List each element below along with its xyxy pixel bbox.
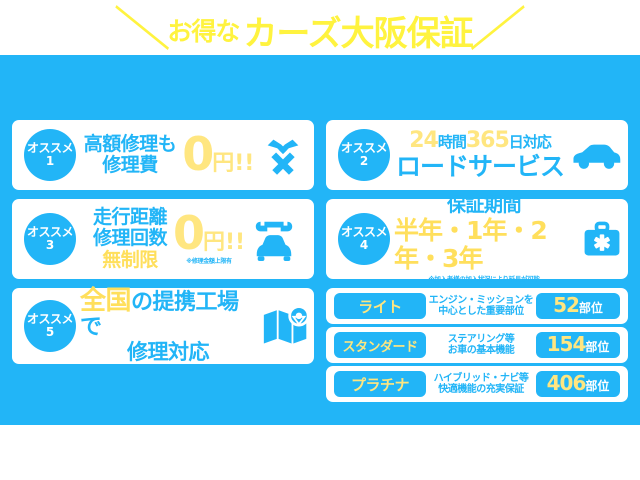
card-3-line-2: 修理回数 [93,228,167,249]
hammer-chisel-icon [260,132,306,178]
card-5-highlight: 全国 [80,286,131,316]
recommend-badge-4: オススメ 4 [338,213,390,265]
card-1-amount-unit: 円!! [212,145,254,177]
plan-row-standard[interactable]: スタンダード ステアリング等 お車の基本機能 154 部位 [326,327,628,363]
plan-count-number: 154 [547,332,586,356]
badge-number: 1 [46,155,54,168]
card-3-line-3: 無制限 [102,250,158,271]
recommend-badge-5: オススメ 5 [24,300,76,352]
card-2-days-number: 365 [466,128,509,153]
slash-left-decoration: ＼ [115,7,172,53]
feature-card-3: オススメ 3 走行距離 修理回数 無制限 0 円!! ※修理金額上限有 [12,199,314,279]
card-1-text: 高額修理も 修理費 [84,134,177,177]
card-1-line-2: 修理費 [102,155,158,176]
card-1-amount: 0 円!! [182,133,254,177]
card-5-line-1: 全国の提携工場で [80,287,256,341]
plan-count-unit: 部位 [585,338,609,355]
card-3-amount-number: 0 [173,212,203,256]
plan-description-standard: ステアリング等 お車の基本機能 [426,334,536,357]
card-3-amount-unit: 円!! [203,224,245,256]
card-2-line-2: ロードサービス [396,153,564,181]
card-4-note: ※加入者様の加入状況により延長が可能 [428,276,539,283]
plan-desc-line-2: お車の基本機能 [448,345,515,357]
plan-count-pill-standard: 154 部位 [536,332,620,358]
badge-number: 5 [46,326,54,339]
card-4-main: 半年・1年・2年・3年 [394,217,574,273]
plan-count-unit: 部位 [585,377,609,394]
plan-name-pill-light: ライト [334,293,426,319]
plan-description-light: エンジン・ミッションを 中心とした重要部位 [426,295,536,318]
plan-name-pill-platinum: プラチナ [334,371,426,397]
badge-number: 4 [360,239,368,252]
warranty-promo-banner: ＼ お得な カーズ大阪保証 ／ オススメ 1 高額修理も 修理費 0 円!! [0,0,640,480]
card-5-line-2: 修理対応 [127,341,209,365]
plan-desc-line-2: 中心とした重要部位 [438,306,524,318]
plan-desc-line-1: ステアリング等 [448,334,515,346]
recommend-badge-2: オススメ 2 [338,129,390,181]
card-2-hours-unit: 時間 [438,133,466,151]
plan-row-platinum[interactable]: プラチナ ハイブリッド・ナビ等 快適機能の充実保証 406 部位 [326,366,628,402]
card-3-amount-block: 0 円!! ※修理金額上限有 [173,212,245,265]
recommend-badge-1: オススメ 1 [24,129,76,181]
card-2-hours-number: 24 [409,128,438,153]
feature-card-5: オススメ 5 全国の提携工場で 修理対応 [12,288,314,364]
plan-desc-line-1: ハイブリッド・ナビ等 [434,373,529,385]
card-4-title: 保証期間 [447,195,521,216]
car-side-icon [570,138,622,172]
plan-row-light[interactable]: ライト エンジン・ミッションを 中心とした重要部位 52 部位 [326,288,628,324]
plan-count-pill-light: 52 部位 [536,293,620,319]
card-1-amount-number: 0 [182,133,212,177]
map-pin-icon [262,305,310,347]
card-3-line-1: 走行距離 [93,207,167,228]
card-2-text: 24時間365日対応 ロードサービス [396,129,564,182]
page-title: ＼ お得な カーズ大阪保証 ／ [0,6,640,54]
card-5-text: 全国の提携工場で 修理対応 [80,287,256,364]
plan-count-number: 406 [547,371,586,395]
card-1-line-1: 高額修理も [84,134,177,155]
feature-card-1: オススメ 1 高額修理も 修理費 0 円!! [12,120,314,190]
plan-count-number: 52 [553,293,579,317]
plan-count-unit: 部位 [579,299,603,316]
badge-number: 2 [360,155,368,168]
first-aid-kit-icon [580,217,624,261]
plan-desc-line-1: エンジン・ミッションを [429,295,534,307]
plan-desc-line-2: 快適機能の充実保証 [438,384,524,396]
plan-description-platinum: ハイブリッド・ナビ等 快適機能の充実保証 [426,373,536,396]
feature-card-4: オススメ 4 保証期間 半年・1年・2年・3年 ※加入者様の加入状況により延長が… [326,199,628,279]
card-2-line-1: 24時間365日対応 [409,129,551,154]
badge-number: 3 [46,239,54,252]
plan-count-pill-platinum: 406 部位 [536,371,620,397]
plan-name-pill-standard: スタンダード [334,332,426,358]
card-3-note: ※修理金額上限有 [186,256,231,265]
card-3-text: 走行距離 修理回数 無制限 [93,207,167,271]
title-main: カーズ大阪保証 [243,6,472,55]
slash-right-decoration: ／ [468,7,525,53]
recommend-badge-3: オススメ 3 [24,213,76,265]
card-3-amount: 0 円!! [173,212,245,256]
card-4-text: 保証期間 半年・1年・2年・3年 ※加入者様の加入状況により延長が可能 [394,195,574,283]
wrench-car-icon [251,216,297,262]
feature-card-2: オススメ 2 24時間365日対応 ロードサービス [326,120,628,190]
card-2-days-unit: 日対応 [509,133,551,151]
title-prefix: お得な [167,12,239,48]
